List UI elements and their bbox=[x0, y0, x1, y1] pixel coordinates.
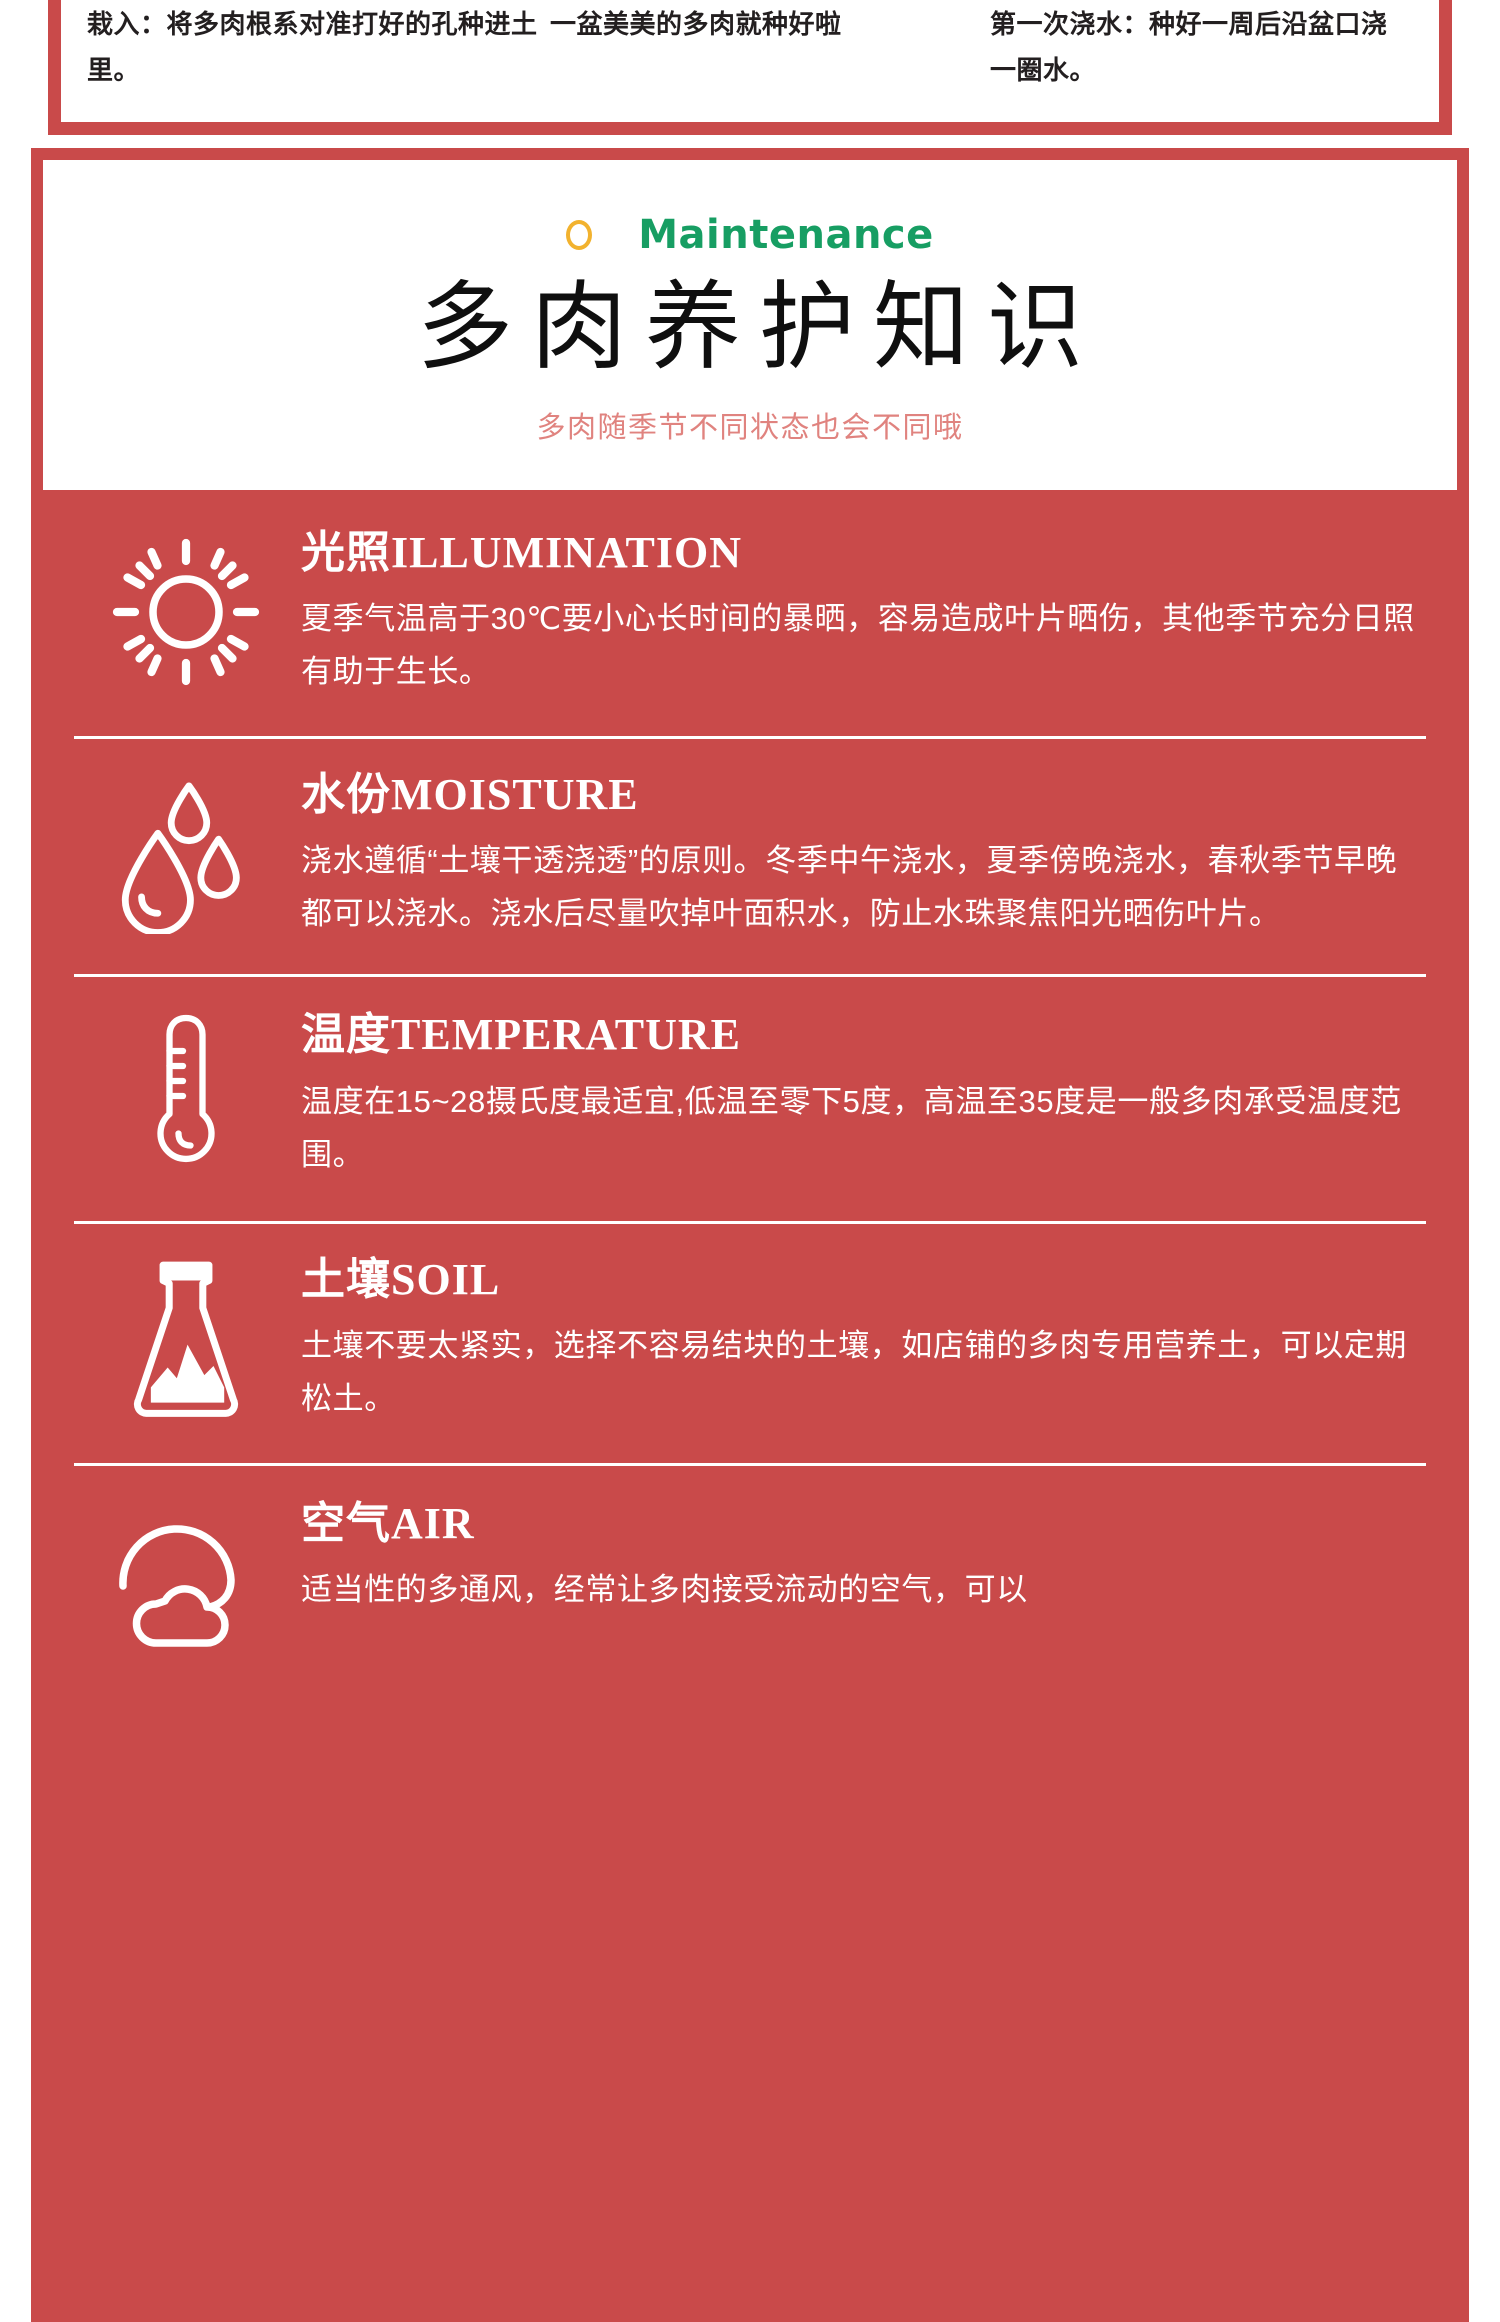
thermometer-icon bbox=[71, 1012, 301, 1172]
care-item-soil: 土壤SOIL 土壤不要太紧实，选择不容易结块的土壤，如店铺的多肉专用营养土，可以… bbox=[43, 1221, 1457, 1463]
care-heading-illumination: 光照ILLUMINATION bbox=[301, 530, 1417, 576]
care-text-temperature: 温度在15~28摄氏度最适宜,低温至零下5度，高温至35度是一般多肉承受温度范围… bbox=[301, 1075, 1417, 1181]
sun-icon bbox=[71, 530, 301, 690]
maintenance-eyebrow-label: Maintenance bbox=[638, 212, 934, 258]
care-item-temperature: 温度TEMPERATURE 温度在15~28摄氏度最适宜,低温至零下5度，高温至… bbox=[43, 974, 1457, 1220]
flask-icon bbox=[71, 1257, 301, 1417]
page-root: 栽入：将多肉根系对准打好的孔种进土里。 一盆美美的多肉就种好啦 第一次浇水：种好… bbox=[0, 0, 1500, 2322]
care-text-illumination: 夏季气温高于30℃要小心长时间的暴晒，容易造成叶片晒伤，其他季节充分日照有助于生… bbox=[301, 592, 1417, 698]
care-tips-list: 光照ILLUMINATION 夏季气温高于30℃要小心长时间的暴晒，容易造成叶片… bbox=[43, 490, 1457, 1699]
cloud-wind-icon bbox=[71, 1501, 301, 1661]
maintenance-eyebrow-row: Maintenance bbox=[566, 206, 934, 264]
page-title: 多肉养护知识 bbox=[399, 272, 1101, 382]
planting-steps-card-inner: 栽入：将多肉根系对准打好的孔种进土里。 一盆美美的多肉就种好啦 第一次浇水：种好… bbox=[61, 0, 1439, 122]
page-subtitle: 多肉随季节不同状态也会不同哦 bbox=[536, 404, 963, 446]
care-body-illumination: 光照ILLUMINATION 夏季气温高于30℃要小心长时间的暴晒，容易造成叶片… bbox=[301, 530, 1435, 698]
circle-outline-icon bbox=[566, 220, 592, 250]
care-body-temperature: 温度TEMPERATURE 温度在15~28摄氏度最适宜,低温至零下5度，高温至… bbox=[301, 1012, 1435, 1180]
care-heading-moisture: 水份MOISTURE bbox=[301, 772, 1417, 818]
care-item-moisture: 水份MOISTURE 浇水遵循“土壤干透浇透”的原则。冬季中午浇水，夏季傍晚浇水… bbox=[43, 736, 1457, 974]
maintenance-header: Maintenance 多肉养护知识 多肉随季节不同状态也会不同哦 bbox=[43, 160, 1457, 490]
care-body-soil: 土壤SOIL 土壤不要太紧实，选择不容易结块的土壤，如店铺的多肉专用营养土，可以… bbox=[301, 1257, 1435, 1425]
care-text-moisture: 浇水遵循“土壤干透浇透”的原则。冬季中午浇水，夏季傍晚浇水，春秋季节早晚都可以浇… bbox=[301, 834, 1417, 940]
care-heading-temperature: 温度TEMPERATURE bbox=[301, 1012, 1417, 1058]
planting-step-1: 栽入：将多肉根系对准打好的孔种进土里。 bbox=[87, 1, 550, 93]
care-text-air: 适当性的多通风，经常让多肉接受流动的空气，可以 bbox=[301, 1563, 1417, 1616]
care-item-illumination: 光照ILLUMINATION 夏季气温高于30℃要小心长时间的暴晒，容易造成叶片… bbox=[43, 490, 1457, 736]
care-heading-soil: 土壤SOIL bbox=[301, 1257, 1417, 1303]
care-text-soil: 土壤不要太紧实，选择不容易结块的土壤，如店铺的多肉专用营养土，可以定期松土。 bbox=[301, 1319, 1417, 1425]
care-body-air: 空气AIR 适当性的多通风，经常让多肉接受流动的空气，可以 bbox=[301, 1501, 1435, 1616]
care-item-air: 空气AIR 适当性的多通风，经常让多肉接受流动的空气，可以 bbox=[43, 1463, 1457, 1699]
care-heading-air: 空气AIR bbox=[301, 1501, 1417, 1547]
planting-steps-card: 栽入：将多肉根系对准打好的孔种进土里。 一盆美美的多肉就种好啦 第一次浇水：种好… bbox=[48, 0, 1452, 135]
planting-step-2: 一盆美美的多肉就种好啦 bbox=[550, 1, 990, 93]
maintenance-card: Maintenance 多肉养护知识 多肉随季节不同状态也会不同哦 bbox=[31, 148, 1469, 2322]
water-drops-icon bbox=[71, 772, 301, 932]
planting-steps-row: 栽入：将多肉根系对准打好的孔种进土里。 一盆美美的多肉就种好啦 第一次浇水：种好… bbox=[87, 1, 1413, 93]
care-body-moisture: 水份MOISTURE 浇水遵循“土壤干透浇透”的原则。冬季中午浇水，夏季傍晚浇水… bbox=[301, 772, 1435, 940]
planting-step-3: 第一次浇水：种好一周后沿盆口浇一圈水。 bbox=[990, 1, 1410, 93]
